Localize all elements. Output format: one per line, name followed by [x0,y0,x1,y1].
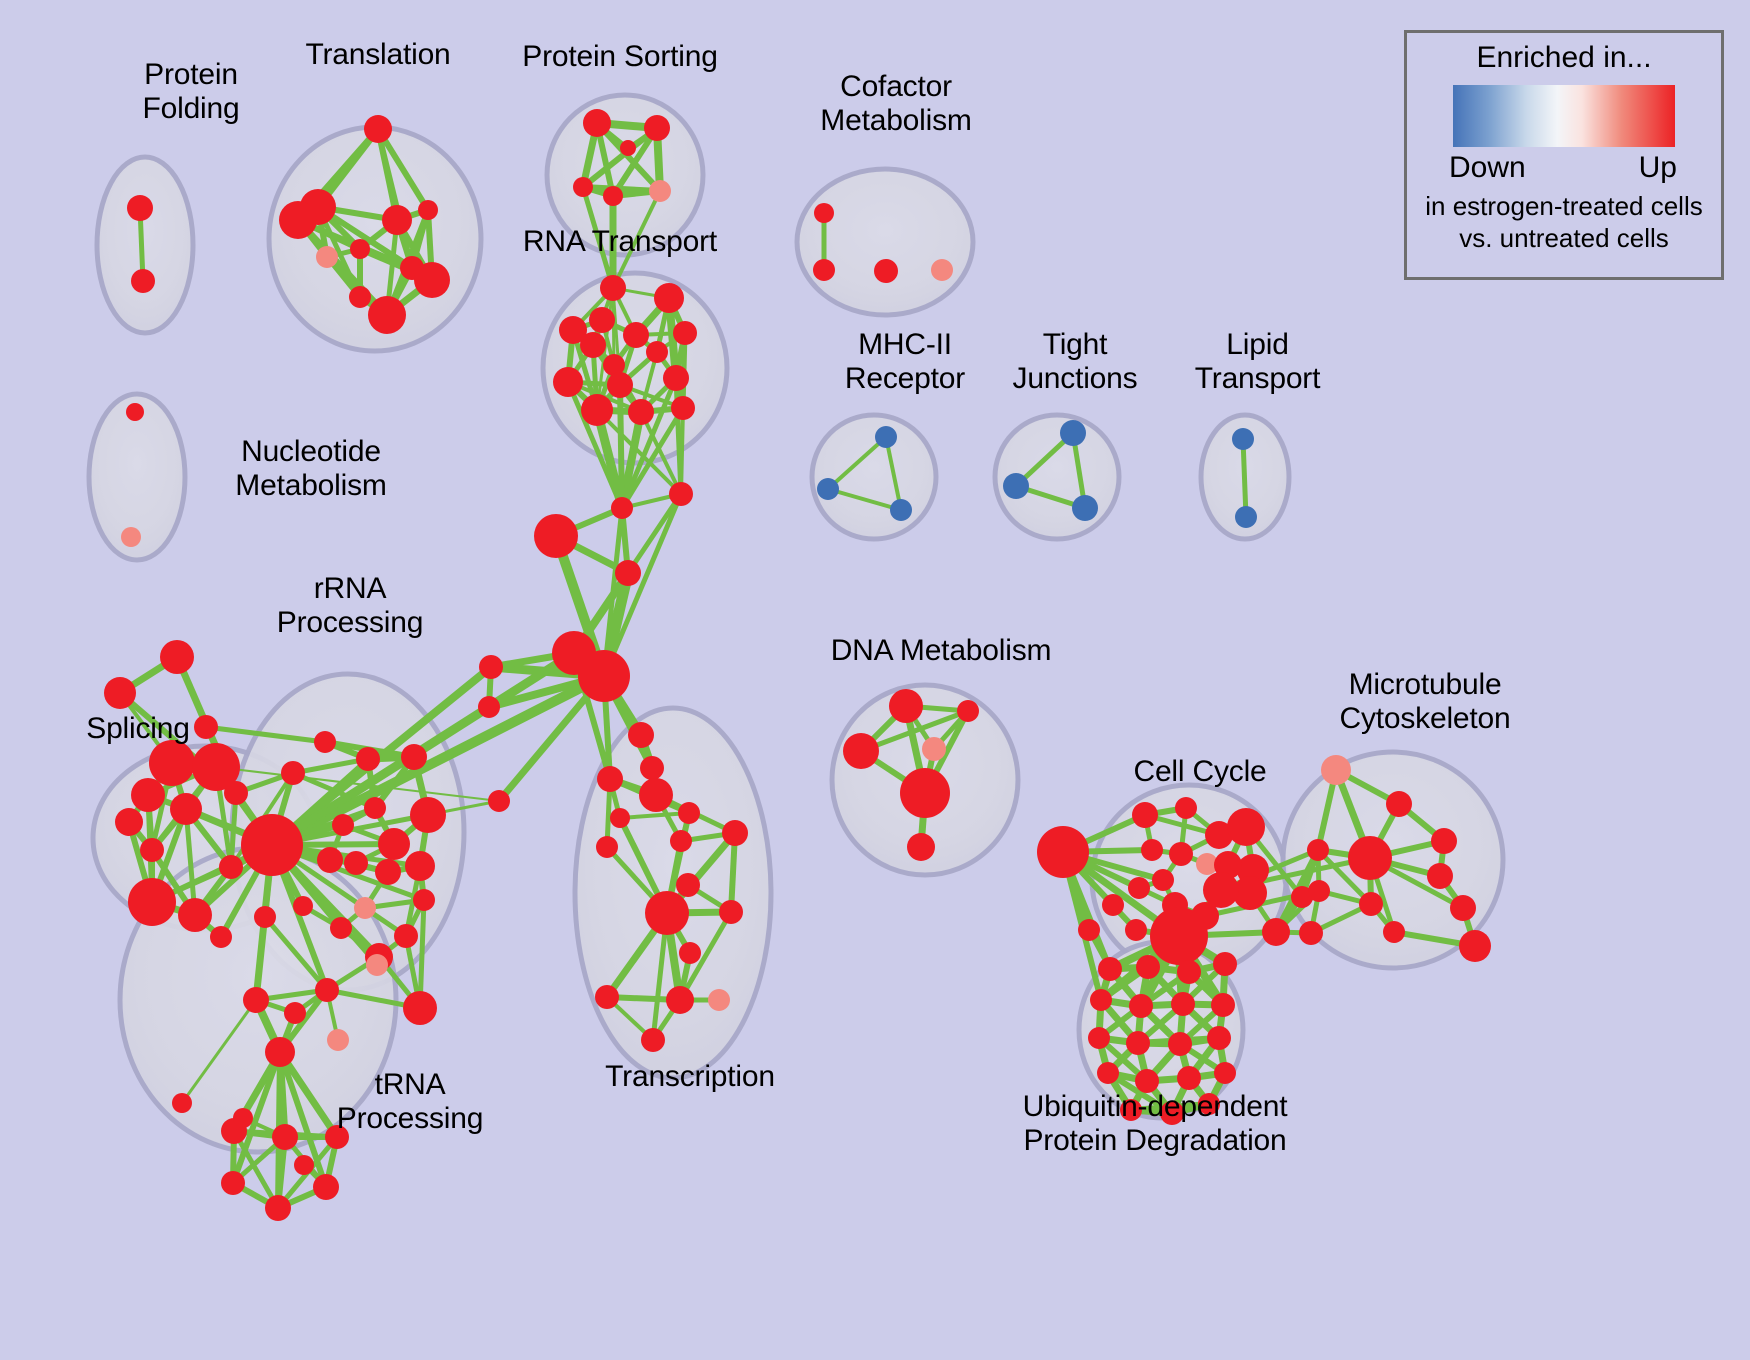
node-mt8[interactable] [1427,863,1453,889]
node-mt9[interactable] [1450,895,1476,921]
node-ct3[interactable] [534,514,578,558]
node-ub4[interactable] [1213,952,1237,976]
node-ct4[interactable] [615,560,641,586]
node-tc4[interactable] [597,766,623,792]
node-rr24[interactable] [284,1002,306,1024]
node-ub7[interactable] [1171,992,1195,1016]
legend-color-bar [1453,85,1675,147]
node-tc10[interactable] [645,891,689,935]
node-rr3[interactable] [401,744,427,770]
node-rt2[interactable] [654,283,684,313]
cluster-label-cell-cycle: Cell Cycle [1100,755,1300,789]
legend-down-label: Down [1449,151,1526,185]
node-mt5[interactable] [1431,828,1457,854]
node-ct7[interactable] [479,655,503,679]
node-cc19[interactable] [1125,919,1147,941]
node-tr10[interactable] [414,262,450,298]
node-ct6[interactable] [578,650,630,702]
node-cf3[interactable] [874,259,898,283]
edge [1243,439,1246,517]
node-rr17[interactable] [394,924,418,948]
node-nm1[interactable] [126,403,144,421]
node-cc21[interactable] [1262,918,1290,946]
cluster-label-rna-transport: RNA Transport [500,225,740,259]
node-rr20[interactable] [254,906,276,928]
node-pf1[interactable] [127,195,153,221]
node-mt4[interactable] [1348,836,1392,880]
node-tn9[interactable] [233,1108,253,1128]
node-rr11[interactable] [405,851,435,881]
network-figure: Protein FoldingTranslationProtein Sortin… [0,0,1750,1360]
legend: Enriched in... Down Up in estrogen-treat… [1404,30,1724,280]
node-lp1[interactable] [1232,428,1254,450]
node-tc9[interactable] [676,873,700,897]
node-sp7[interactable] [115,808,143,836]
node-tc12[interactable] [719,900,743,924]
node-ub15[interactable] [1177,1066,1201,1090]
node-dn2[interactable] [957,700,979,722]
node-sp11[interactable] [128,878,176,926]
node-rt12[interactable] [663,365,689,391]
node-ub16[interactable] [1214,1062,1236,1084]
cluster-label-nucleotide-metabolism: Nucleotide Metabolism [196,435,426,503]
node-ub3[interactable] [1177,960,1201,984]
node-rr23[interactable] [403,991,437,1025]
cluster-label-microtubule-cytoskeleton: Microtubule Cytoskeleton [1300,668,1550,736]
node-sp5[interactable] [192,743,240,791]
node-dn3[interactable] [843,733,879,769]
node-cc1[interactable] [1132,802,1158,828]
node-sp12[interactable] [178,898,212,932]
node-tr6[interactable] [350,239,370,259]
legend-subtitle-line1: in estrogen-treated cells [1407,191,1721,221]
cluster-label-mhc-ii-receptor: MHC-II Receptor [800,328,1010,396]
node-mt2[interactable] [1386,791,1412,817]
node-cc17[interactable] [1102,894,1124,916]
cluster-label-trna-processing: tRNA Processing [310,1068,510,1136]
node-tr11[interactable] [368,296,406,334]
node-cc7[interactable] [1037,826,1089,878]
node-mh1[interactable] [875,426,897,448]
cluster-label-splicing: Splicing [58,712,218,746]
node-tc2[interactable] [640,756,664,780]
node-dn6[interactable] [907,833,935,861]
node-cf2[interactable] [813,259,835,281]
cluster-label-protein-sorting: Protein Sorting [500,40,740,74]
node-ub2[interactable] [1136,955,1160,979]
node-ub1[interactable] [1098,957,1122,981]
node-sp2[interactable] [104,677,136,709]
node-sp4[interactable] [149,740,195,786]
edge [681,408,683,494]
node-ub9[interactable] [1088,1027,1110,1049]
node-lp2[interactable] [1235,506,1257,528]
node-tc3[interactable] [639,778,673,812]
node-sp8[interactable] [170,793,202,825]
node-tn4[interactable] [272,1124,298,1150]
node-mh2[interactable] [817,478,839,500]
node-mt6[interactable] [1308,880,1330,902]
cluster-label-protein-folding: Protein Folding [86,58,296,126]
node-mt12[interactable] [1459,930,1491,962]
node-rr22[interactable] [315,978,339,1002]
node-tr1[interactable] [364,115,392,143]
node-tc13[interactable] [679,942,701,964]
cluster-label-ubiquitin-degradation: Ubiquitin-dependent Protein Degradation [985,1090,1325,1158]
edge [620,385,622,508]
node-ub12[interactable] [1207,1026,1231,1050]
node-ps3[interactable] [573,177,593,197]
node-ps6[interactable] [620,140,636,156]
legend-subtitle-line2: vs. untreated cells [1407,223,1721,253]
node-mt1[interactable] [1321,755,1351,785]
node-tn1[interactable] [265,1037,295,1067]
node-ub10[interactable] [1126,1031,1150,1055]
node-rr6[interactable] [410,797,446,833]
node-tr5[interactable] [418,200,438,220]
node-tc16[interactable] [666,986,694,1014]
node-mt3[interactable] [1307,839,1329,861]
node-rt8[interactable] [646,341,668,363]
node-mt7[interactable] [1359,892,1383,916]
node-rt13[interactable] [581,394,613,426]
node-rr19[interactable] [366,954,388,976]
node-tr3[interactable] [382,205,412,235]
cluster-label-dna-metabolism: DNA Metabolism [816,634,1066,668]
node-cc12[interactable] [1152,869,1174,891]
node-rt5[interactable] [623,322,649,348]
node-rr15[interactable] [293,896,313,916]
legend-endpoints: Down Up [1407,151,1721,189]
node-sp9[interactable] [219,855,243,879]
node-tc14[interactable] [641,1028,665,1052]
node-mt11[interactable] [1383,921,1405,943]
node-nm2[interactable] [121,527,141,547]
node-cc9[interactable] [1169,842,1193,866]
node-rt7[interactable] [580,332,606,358]
node-dn1[interactable] [889,689,923,723]
node-rt11[interactable] [607,372,633,398]
node-rr7[interactable] [378,828,410,860]
node-mt10[interactable] [1299,921,1323,945]
node-ps1[interactable] [583,109,611,137]
node-rr25[interactable] [327,1029,349,1051]
node-tn2[interactable] [172,1093,192,1113]
cluster-label-lipid-transport: Lipid Transport [1160,328,1355,396]
node-mh3[interactable] [890,499,912,521]
node-ps2[interactable] [644,115,670,141]
node-rr4[interactable] [364,797,386,819]
node-ct9[interactable] [488,790,510,812]
node-sp13[interactable] [210,926,232,948]
node-dn4[interactable] [922,737,946,761]
node-tn8[interactable] [265,1195,291,1221]
node-rt1[interactable] [600,275,626,301]
node-tc8[interactable] [678,802,700,824]
node-rt14[interactable] [628,399,654,425]
node-cc8[interactable] [1141,839,1163,861]
node-tc15[interactable] [595,985,619,1009]
node-rr12[interactable] [354,897,376,919]
cluster-hull-protein-folding[interactable] [97,157,193,333]
node-tj2[interactable] [1003,473,1029,499]
node-rr26[interactable] [281,761,305,785]
cluster-label-transcription: Transcription [570,1060,810,1094]
node-tn6[interactable] [221,1171,245,1195]
node-rt15[interactable] [671,396,695,420]
node-ct2[interactable] [669,482,693,506]
node-ct8[interactable] [478,696,500,718]
node-cf1[interactable] [814,203,834,223]
node-rt3[interactable] [589,307,615,333]
node-tc17[interactable] [708,989,730,1011]
node-tn10[interactable] [294,1155,314,1175]
node-cc4[interactable] [1227,808,1265,846]
cluster-label-cofactor-metabolism: Cofactor Metabolism [786,70,1006,138]
node-cc18[interactable] [1150,907,1208,965]
node-ct1[interactable] [611,497,633,519]
node-ps4[interactable] [603,186,623,206]
node-ub8[interactable] [1211,993,1235,1017]
node-tj3[interactable] [1072,495,1098,521]
node-tr8[interactable] [349,286,371,308]
cluster-label-tight-junctions: Tight Junctions [980,328,1170,396]
node-rr9[interactable] [344,851,368,875]
node-dn5[interactable] [900,768,950,818]
node-rr1[interactable] [314,731,336,753]
node-cc14[interactable] [1128,877,1150,899]
node-rr10[interactable] [375,859,401,885]
node-ub13[interactable] [1097,1062,1119,1084]
node-sp6[interactable] [131,778,165,812]
node-tr4[interactable] [279,201,317,239]
node-rr14[interactable] [241,814,303,876]
node-sp10[interactable] [140,838,164,862]
legend-up-label: Up [1639,151,1677,185]
cluster-hull-mhc-ii-receptor[interactable] [812,415,936,539]
node-rt10[interactable] [553,367,583,397]
node-tc5[interactable] [670,830,692,852]
cluster-label-rrna-processing: rRNA Processing [250,572,450,640]
node-ub5[interactable] [1090,989,1112,1011]
node-ub11[interactable] [1168,1032,1192,1056]
node-rr16[interactable] [330,917,352,939]
node-pf2[interactable] [131,269,155,293]
node-rt6[interactable] [673,321,697,345]
node-tj1[interactable] [1060,420,1086,446]
node-tn7[interactable] [313,1174,339,1200]
cluster-label-translation: Translation [268,38,488,72]
node-sp1[interactable] [160,640,194,674]
node-ps5[interactable] [649,180,671,202]
node-tc6[interactable] [610,808,630,828]
node-rr2[interactable] [356,747,380,771]
node-tr9[interactable] [316,246,338,268]
node-rr5[interactable] [332,814,354,836]
node-cf4[interactable] [931,259,953,281]
legend-title: Enriched in... [1407,41,1721,75]
node-cc2[interactable] [1175,797,1197,819]
node-tc1[interactable] [628,722,654,748]
node-ub6[interactable] [1129,994,1153,1018]
node-tc11[interactable] [596,836,618,858]
node-rr8[interactable] [317,847,343,873]
node-cc20[interactable] [1078,919,1100,941]
node-rr13[interactable] [413,889,435,911]
node-tc7[interactable] [722,820,748,846]
node-rr21[interactable] [243,987,269,1013]
